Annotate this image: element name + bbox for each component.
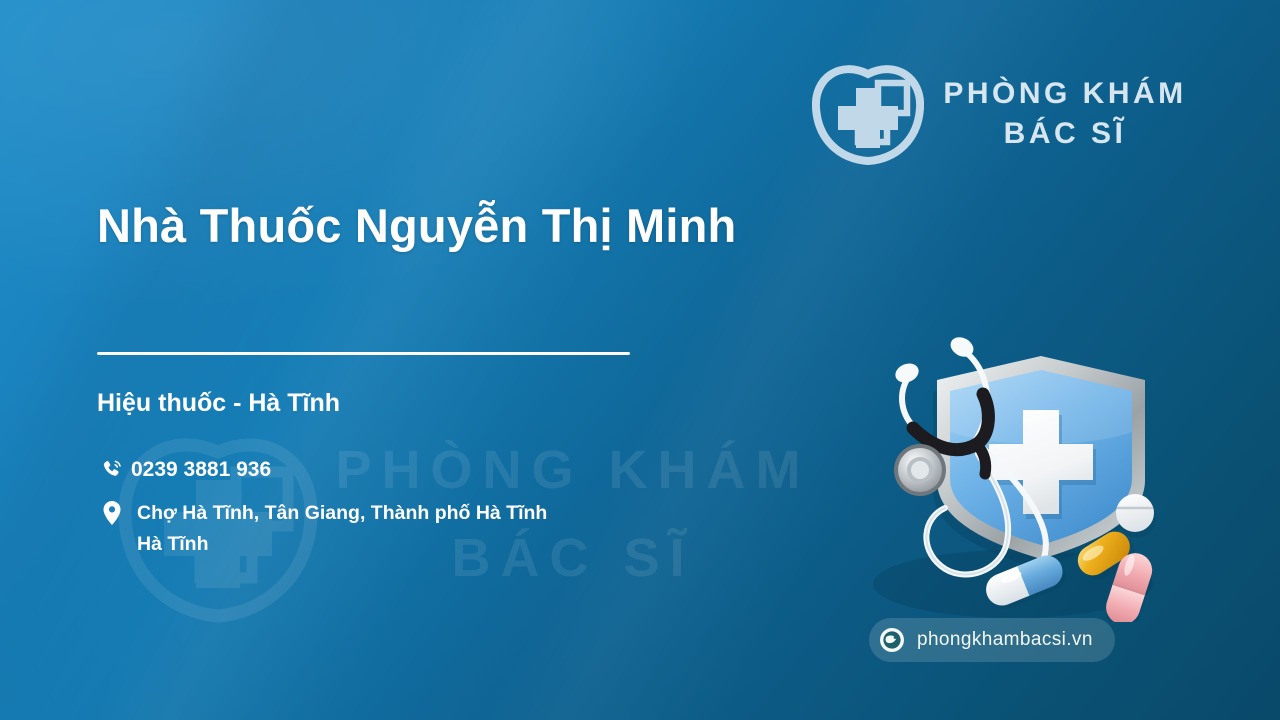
address-row[interactable]: Chợ Hà Tĩnh, Tân Giang, Thành phố Hà Tĩn… (97, 498, 737, 560)
brand-line-2: BÁC SĨ (938, 116, 1192, 152)
title-divider (97, 352, 630, 355)
phone-row[interactable]: 0239 3881 936 (97, 455, 737, 484)
subtitle: Hiệu thuốc - Hà Tĩnh (97, 389, 340, 418)
phone-ringing-icon (97, 456, 127, 484)
address-text: Chợ Hà Tĩnh, Tân Giang, Thành phố Hà Tĩn… (137, 498, 547, 560)
address-line-2: Hà Tĩnh (137, 533, 209, 555)
page-title: Nhà Thuốc Nguyễn Thị Minh (97, 198, 736, 253)
brand-line-1: PHÒNG KHÁM (938, 76, 1192, 112)
contact-block: 0239 3881 936 Chợ Hà Tĩnh, Tân Giang, Th… (97, 455, 737, 560)
phone-number: 0239 3881 936 (131, 455, 271, 484)
website-badge[interactable]: phongkhambacsi.vn (869, 618, 1115, 662)
medical-cross-heart-logo-icon (812, 62, 924, 166)
white-tablet (1116, 494, 1156, 538)
brand-text: PHÒNG KHÁM BÁC SĨ (938, 76, 1192, 152)
website-label: phongkhambacsi.vn (917, 629, 1093, 651)
globe-icon (879, 627, 905, 653)
address-line-1: Chợ Hà Tĩnh, Tân Giang, Thành phố Hà Tĩn… (137, 502, 547, 524)
map-pin-icon (97, 499, 127, 527)
pharmacy-banner: PHÒNG KHÁM BÁC SĨ PHÒNG KHÁM BÁC SĨ Nhà … (0, 0, 1280, 720)
chestpiece (894, 444, 946, 496)
brand-logo: PHÒNG KHÁM BÁC SĨ (812, 58, 1192, 170)
medical-shield-stethoscope-pills-illustration (845, 332, 1175, 622)
